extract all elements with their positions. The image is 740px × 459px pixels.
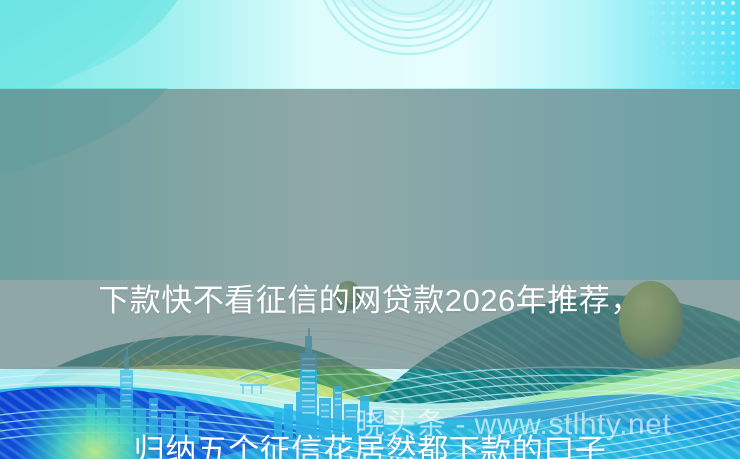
page-title: 下款快不看征信的网贷款2026年推荐， 归纳五个征信花居然都下款的口子 <box>0 176 740 459</box>
article-cover: 下款快不看征信的网贷款2026年推荐， 归纳五个征信花居然都下款的口子 晓头条 … <box>0 0 740 459</box>
headline-line-2: 归纳五个征信花居然都下款的口子 <box>0 426 740 459</box>
headline-line-1: 下款快不看征信的网贷款2026年推荐， <box>0 276 740 326</box>
